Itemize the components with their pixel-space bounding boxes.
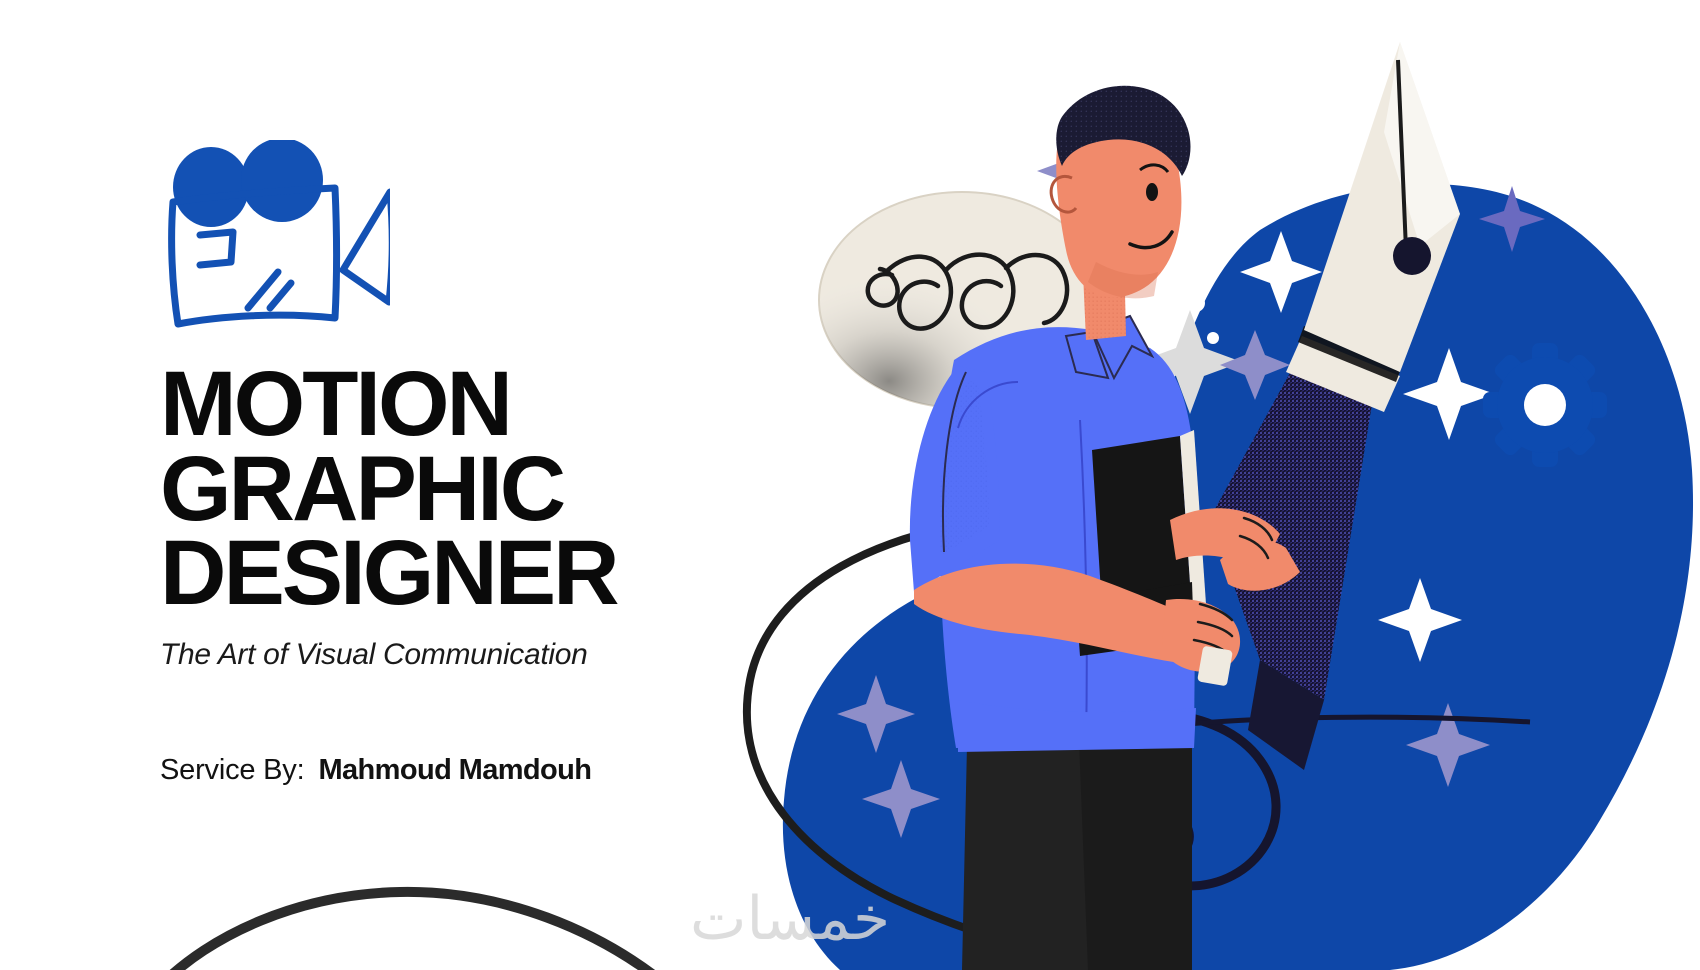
page-title: MOTION GRAPHIC DESIGNER [160,362,780,616]
camera-window [200,232,233,265]
illustration-svg [700,0,1700,970]
gear-icon [1483,343,1607,467]
left-text-column: MOTION GRAPHIC DESIGNER The Art of Visua… [160,140,780,787]
camera-reel-left [173,147,249,227]
camera-slash-2 [270,283,291,308]
eye [1146,183,1158,201]
cuff [1197,646,1233,687]
headline-line-2: GRAPHIC [160,447,780,532]
video-camera-icon [160,140,390,340]
headline-line-3: DESIGNER [160,531,780,616]
dot-b [1207,332,1219,344]
illustration [700,0,1700,970]
service-by-label: Service By: [160,754,304,787]
headline-line-1: MOTION [160,362,780,447]
service-credit: Service By: Mahmoud Mamdouh [160,754,780,787]
service-provider-name: Mahmoud Mamdouh [318,754,591,787]
dot-a [1187,294,1205,312]
camera-lens-horn [343,192,390,302]
poster-slide: MOTION GRAPHIC DESIGNER The Art of Visua… [0,0,1700,970]
bottom-curl [150,830,710,970]
camera-reel-right [241,140,323,222]
trousers-shade [1078,716,1192,970]
subtitle: The Art of Visual Communication [160,638,780,672]
watermark: خمسات [690,884,890,954]
bottom-curl-path [158,892,670,970]
nib-hole [1393,237,1431,275]
